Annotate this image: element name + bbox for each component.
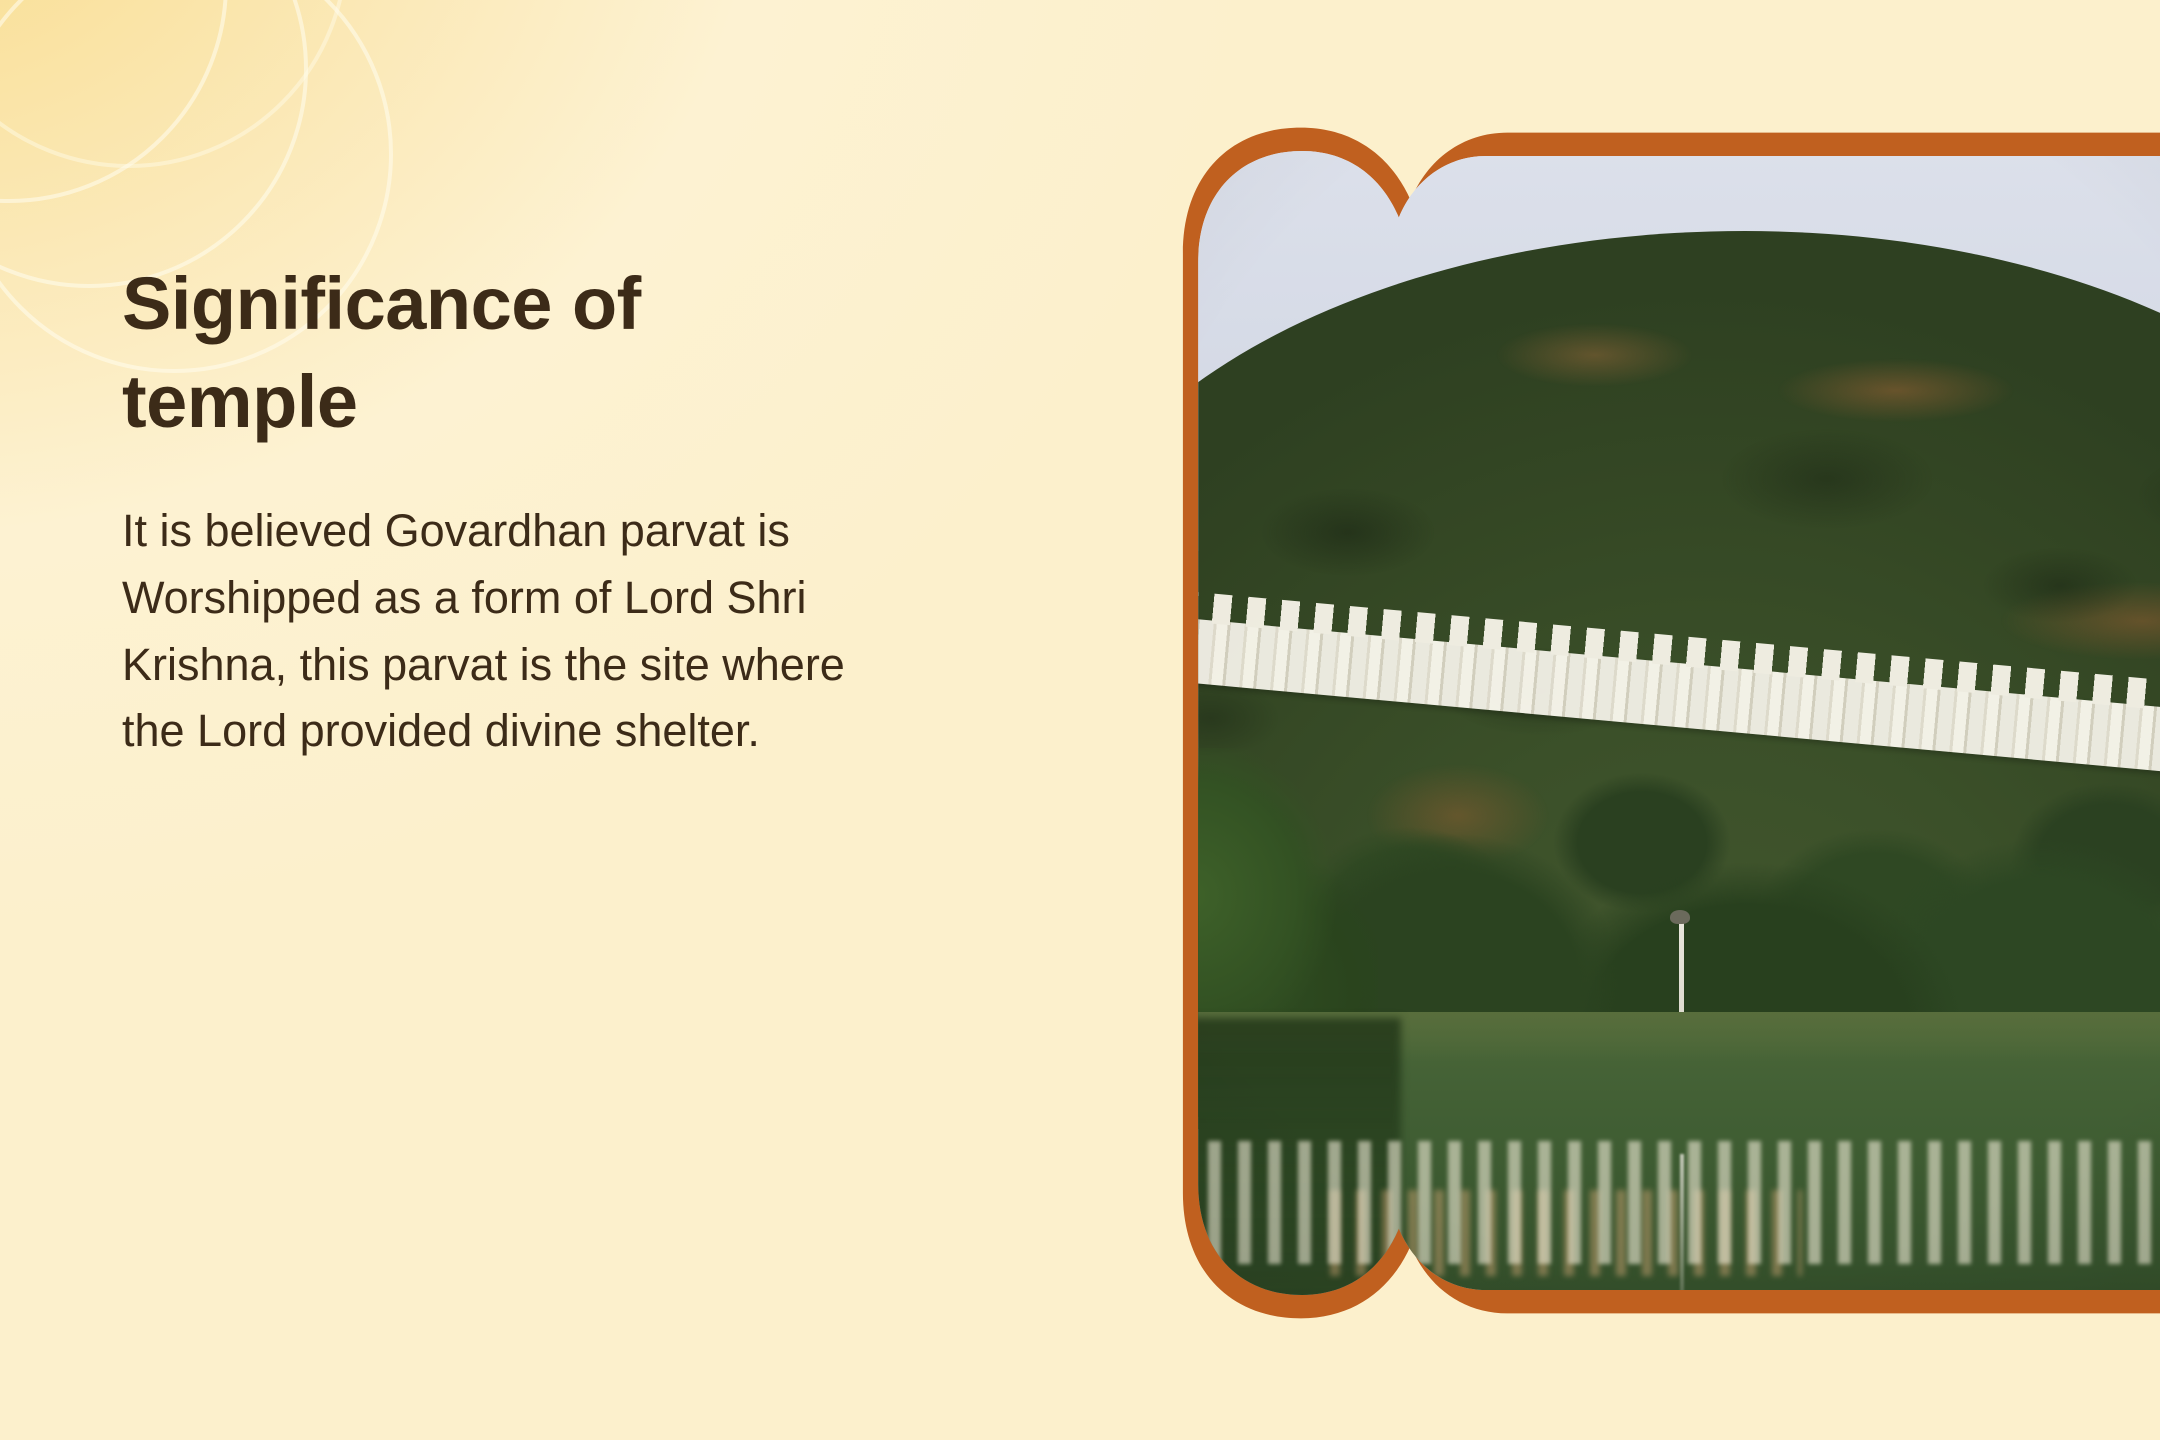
photo-frame xyxy=(1118,108,2160,1338)
text-column: Significance of temple It is believed Go… xyxy=(122,255,902,765)
page-title: Significance of temple xyxy=(122,255,822,450)
slide-root: Significance of temple It is believed Go… xyxy=(0,0,2160,1440)
photo-lamp-reflection xyxy=(1680,1154,1684,1314)
photo-lake-wall-reflection xyxy=(1118,1141,2160,1264)
photo-lamp-head-icon xyxy=(1670,910,1690,924)
body-paragraph: It is believed Govardhan parvat is Worsh… xyxy=(122,498,902,764)
temple-photo xyxy=(1118,108,2160,1338)
